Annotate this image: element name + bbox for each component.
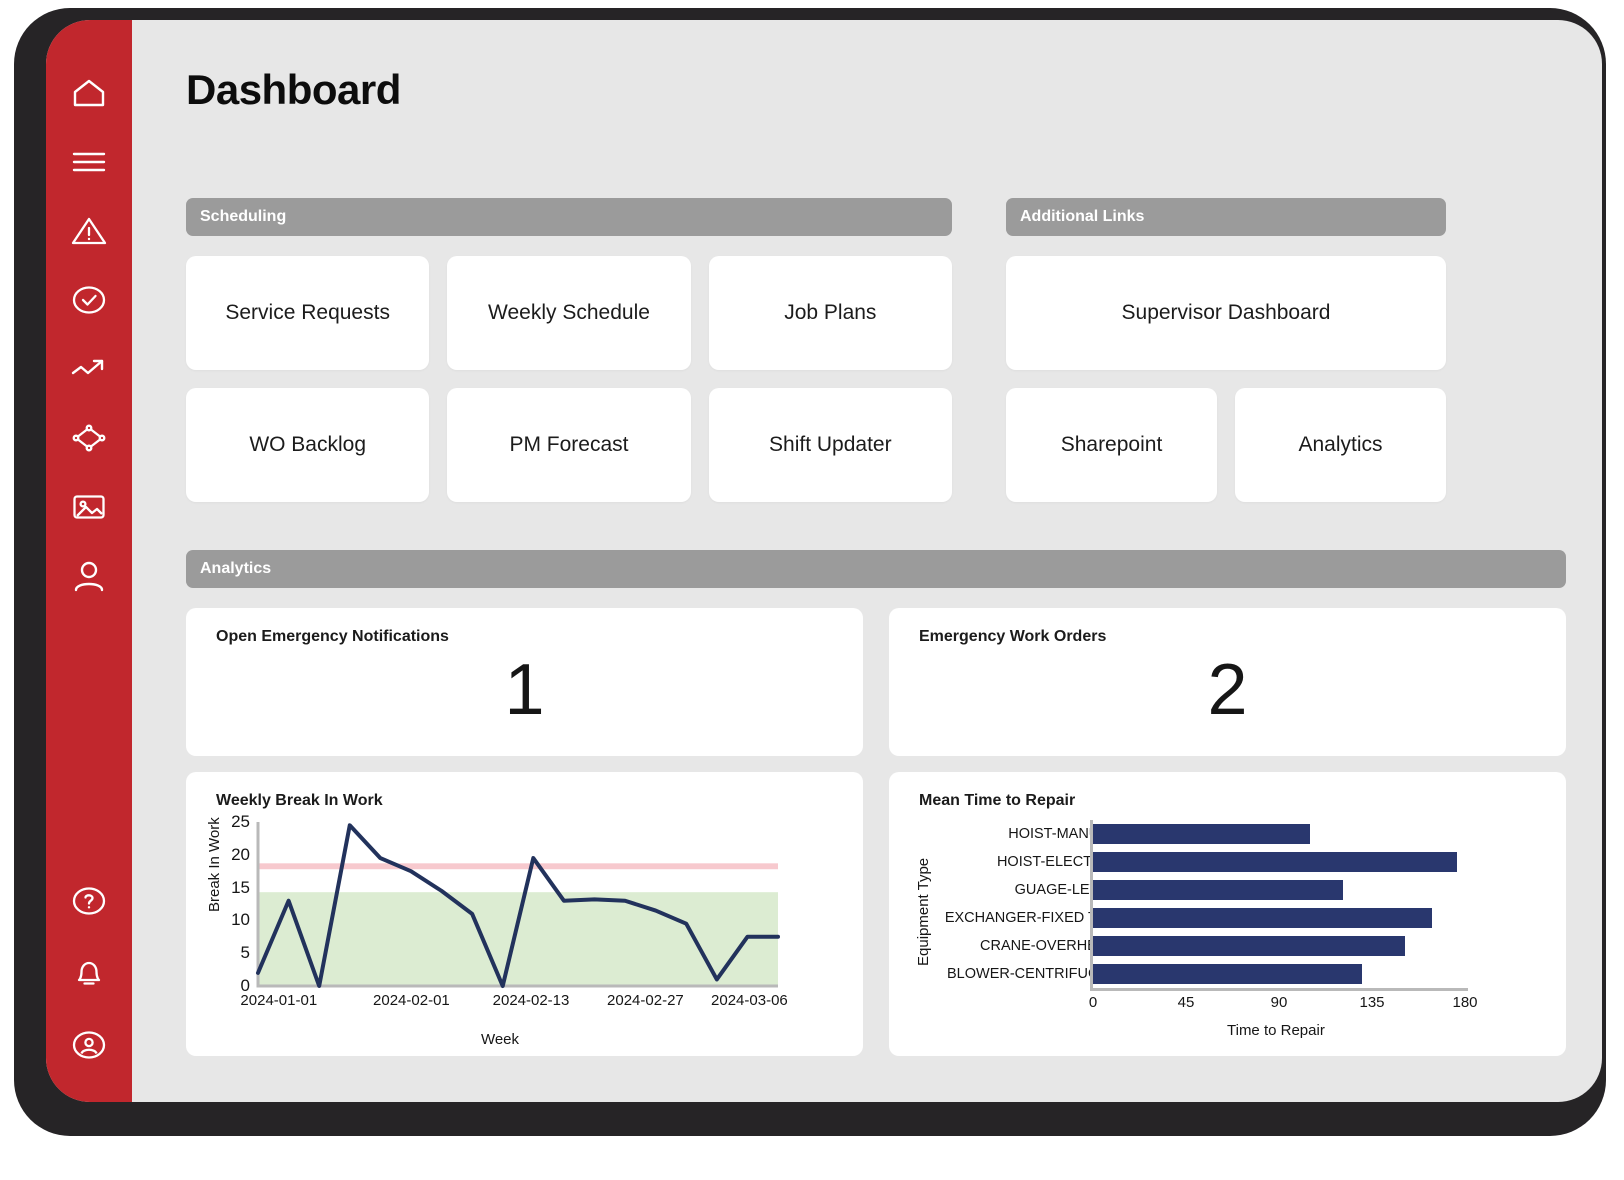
tile-wo-backlog[interactable]: WO Backlog	[186, 388, 429, 502]
analytics-column-right: Emergency Work Orders 2 Mean Time to Rep…	[889, 608, 1566, 1056]
line-chart-x-tick: 2024-02-01	[373, 992, 450, 1009]
analytics-section-header[interactable]: Analytics	[186, 550, 1566, 588]
bar-chart-x-tick: 90	[1271, 994, 1288, 1011]
scheduling-section-header[interactable]: Scheduling	[186, 198, 952, 236]
kpi-card-emergency-work-orders: Emergency Work Orders 2	[889, 608, 1566, 756]
tile-weekly-schedule[interactable]: Weekly Schedule	[447, 256, 690, 370]
tile-service-requests[interactable]: Service Requests	[186, 256, 429, 370]
bar-chart-x-axis-line	[1090, 988, 1468, 991]
bar-chart-bar	[1093, 908, 1432, 928]
scheduling-tiles-row-2: WO Backlog PM Forecast Shift Updater	[186, 388, 952, 502]
bell-icon[interactable]	[66, 950, 112, 996]
kpi-title-open-emergency-notifications: Open Emergency Notifications	[216, 628, 863, 646]
bar-chart-x-axis-title: Time to Repair	[1227, 1022, 1325, 1039]
page-title: Dashboard	[132, 20, 1602, 114]
kpi-value-open-emergency-notifications: 1	[186, 654, 863, 726]
bar-chart-y-axis-title: Equipment Type	[915, 858, 932, 966]
tile-analytics[interactable]: Analytics	[1235, 388, 1446, 502]
trend-up-icon[interactable]	[66, 346, 112, 392]
bar-chart-y-axis-line	[1090, 820, 1093, 988]
bar-chart-x-tick: 135	[1359, 994, 1384, 1011]
bar-chart-bar	[1093, 880, 1343, 900]
chart-title-weekly-break-in-work: Weekly Break In Work	[216, 792, 863, 810]
analytics-header-label: Analytics	[200, 560, 271, 578]
person-icon[interactable]	[66, 553, 112, 599]
scheduling-section: Scheduling Service Requests Weekly Sched…	[186, 198, 952, 520]
top-sections-row: Scheduling Service Requests Weekly Sched…	[186, 198, 1566, 520]
menu-icon[interactable]	[66, 139, 112, 185]
device-frame: Dashboard Scheduling Service Requests We…	[14, 8, 1606, 1136]
threshold-line	[258, 863, 778, 869]
sidebar-bottom-group	[66, 878, 112, 1102]
line-chart-x-tick: 2024-02-13	[493, 992, 570, 1009]
tile-supervisor-dashboard[interactable]: Supervisor Dashboard	[1006, 256, 1446, 370]
device-screen: Dashboard Scheduling Service Requests We…	[46, 20, 1602, 1102]
bar-chart-bar	[1093, 964, 1362, 984]
bar-chart-bar	[1093, 852, 1457, 872]
home-icon[interactable]	[66, 70, 112, 116]
network-icon[interactable]	[66, 415, 112, 461]
image-icon[interactable]	[66, 484, 112, 530]
line-chart-y-tick: 10	[210, 910, 250, 930]
chart-title-mean-time-to-repair: Mean Time to Repair	[919, 792, 1566, 810]
analytics-section: Analytics Open Emergency Notifications 1…	[186, 550, 1566, 1056]
kpi-value-emergency-work-orders: 2	[889, 654, 1566, 726]
bar-chart-plot-area	[1093, 820, 1465, 988]
kpi-card-open-emergency-notifications: Open Emergency Notifications 1	[186, 608, 863, 756]
tile-pm-forecast[interactable]: PM Forecast	[447, 388, 690, 502]
additional-links-header-label: Additional Links	[1020, 208, 1144, 226]
line-chart-y-tick: 25	[210, 812, 250, 832]
line-chart-y-tick: 5	[210, 943, 250, 963]
additional-links-section: Additional Links Supervisor Dashboard Sh…	[1006, 198, 1446, 520]
help-icon[interactable]	[66, 878, 112, 924]
chart-card-mean-time-to-repair: Mean Time to Repair Equipment Type HOIST…	[889, 772, 1566, 1056]
sidebar-nav	[46, 20, 132, 1102]
account-icon[interactable]	[66, 1022, 112, 1068]
line-chart-y-tick: 20	[210, 845, 250, 865]
dashboard-board: Scheduling Service Requests Weekly Sched…	[186, 198, 1566, 1056]
tile-job-plans[interactable]: Job Plans	[709, 256, 952, 370]
kpi-title-emergency-work-orders: Emergency Work Orders	[919, 628, 1566, 646]
additional-links-tiles-row-1: Supervisor Dashboard	[1006, 256, 1446, 370]
bar-chart-bar	[1093, 936, 1405, 956]
bar-chart-x-tick: 0	[1089, 994, 1097, 1011]
line-chart-x-tick: 2024-02-27	[607, 992, 684, 1009]
warning-icon[interactable]	[66, 208, 112, 254]
additional-links-section-header[interactable]: Additional Links	[1006, 198, 1446, 236]
line-chart-x-tick: 2024-01-01	[240, 992, 317, 1009]
scheduling-header-label: Scheduling	[200, 208, 286, 226]
scheduling-tiles-row-1: Service Requests Weekly Schedule Job Pla…	[186, 256, 952, 370]
bar-chart: Equipment Type HOIST-MANUALHOIST-ELECTRI…	[897, 816, 1497, 1046]
analytics-column-left: Open Emergency Notifications 1 Weekly Br…	[186, 608, 863, 1056]
bar-chart-x-tick: 45	[1178, 994, 1195, 1011]
line-chart: Break In Work 0510152025 2024-01-012024-…	[200, 816, 800, 1046]
bar-chart-bar	[1093, 824, 1310, 844]
bar-chart-x-tick: 180	[1452, 994, 1477, 1011]
line-chart-x-axis-title: Week	[200, 1031, 800, 1048]
line-chart-plot-area	[258, 822, 778, 986]
chart-card-weekly-break-in-work: Weekly Break In Work Break In Work 05101…	[186, 772, 863, 1056]
check-circle-icon[interactable]	[66, 277, 112, 323]
tile-shift-updater[interactable]: Shift Updater	[709, 388, 952, 502]
line-chart-y-tick: 15	[210, 878, 250, 898]
additional-links-tiles-row-2: Sharepoint Analytics	[1006, 388, 1446, 502]
line-chart-x-tick: 2024-03-06	[711, 992, 788, 1009]
analytics-columns: Open Emergency Notifications 1 Weekly Br…	[186, 608, 1566, 1056]
main-content: Dashboard Scheduling Service Requests We…	[132, 20, 1602, 1102]
tile-sharepoint[interactable]: Sharepoint	[1006, 388, 1217, 502]
